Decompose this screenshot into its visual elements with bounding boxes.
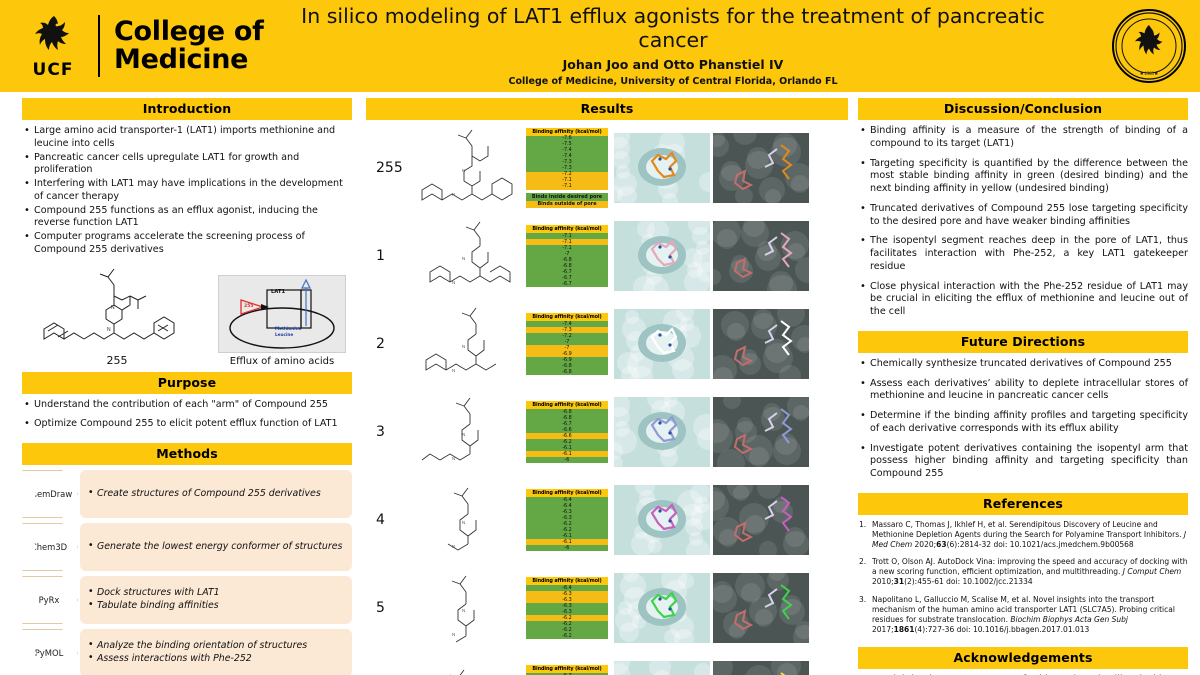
svg-text:N: N [462, 432, 465, 437]
efflux-diagram: LAT1 255 Methionine Leucine Efflux of am… [218, 275, 346, 367]
binding-affinity-table: Binding affinity (kcal/mol)-6.8-6.8-6.7-… [526, 401, 608, 463]
result-docking-images [614, 309, 809, 379]
purpose-heading: Purpose [22, 372, 352, 394]
table-row: -6.7 [526, 281, 608, 287]
docking-side-view [713, 661, 809, 675]
diagram-label-lat1: LAT1 [271, 289, 285, 295]
result-structure-diagram: NN [410, 478, 526, 562]
docking-pore-view [614, 661, 710, 675]
left-column: Introduction Large amino acid transporte… [22, 98, 352, 675]
method-step-body: Dock structures with LAT1 Tabulate bindi… [80, 576, 352, 624]
list-item: Optimize Compound 255 to elicit potent e… [22, 418, 352, 431]
chevron-icon: PyMOL [22, 629, 78, 675]
svg-text:N: N [452, 280, 455, 285]
svg-text:N: N [452, 544, 455, 549]
diagram-label-255: 255 [244, 304, 254, 309]
svg-text:N: N [452, 456, 455, 461]
header-divider [98, 15, 100, 77]
introduction-heading: Introduction [22, 98, 352, 120]
references-heading: References [858, 493, 1188, 515]
result-docking-images [614, 573, 809, 643]
docking-side-view [713, 309, 809, 379]
svg-text:N: N [452, 368, 455, 373]
svg-text:N: N [452, 632, 455, 637]
docking-pore-view [614, 309, 710, 379]
future-directions-bullets: Chemically synthesize truncated derivati… [858, 358, 1188, 481]
result-docking-images [614, 133, 809, 203]
table-row: -7.1 [526, 184, 608, 190]
list-item: Close physical interaction with the Phe-… [858, 281, 1188, 319]
list-item: Investigate potent derivatives containin… [858, 443, 1188, 481]
result-compound-label: 255 [366, 160, 410, 176]
method-tool-label: Chem3D [31, 542, 67, 552]
method-step-body: Generate the lowest energy conformer of … [80, 523, 352, 571]
table-column-header: Binding affinity (kcal/mol) [526, 313, 608, 321]
result-row-4: 4NNBinding affinity (kcal/mol)-6.4-6.4-6… [366, 477, 848, 563]
table-row: -6 [526, 457, 608, 463]
binding-affinity-table: Binding affinity (kcal/mol)-6.4-6.4-6.3-… [526, 489, 608, 551]
method-step-chem3d: Chem3D Generate the lowest energy confor… [22, 523, 352, 571]
method-tool-label: ChemDraw [26, 489, 72, 499]
result-compound-label: 1 [366, 248, 410, 264]
table-column-header: Binding affinity (kcal/mol) [526, 401, 608, 409]
chevron-icon: Chem3D [22, 523, 78, 571]
method-tool-label: PyMOL [35, 648, 64, 658]
result-row-3: 3NNBinding affinity (kcal/mol)-6.8-6.8-6… [366, 389, 848, 475]
table-column-header: Binding affinity (kcal/mol) [526, 665, 608, 673]
method-step-pyrx: PyRx Dock structures with LAT1 Tabulate … [22, 576, 352, 624]
method-step-chemdraw: ChemDraw Create structures of Compound 2… [22, 470, 352, 518]
method-tool-label: PyRx [39, 595, 60, 605]
result-structure-diagram: NN [410, 566, 526, 650]
acknowledgements-heading: Acknowledgements [858, 647, 1188, 669]
docking-pore-view [614, 485, 710, 555]
chevron-icon: PyRx [22, 576, 78, 624]
results-rows: 255NNBinding affinity (kcal/mol)-7.6-7.5… [366, 125, 848, 675]
results-column: Results 255NNBinding affinity (kcal/mol)… [366, 98, 848, 675]
list-item: Interfering with LAT1 may have implicati… [22, 178, 352, 204]
list-item: Chemically synthesize truncated derivati… [858, 358, 1188, 371]
svg-text:★1963★: ★1963★ [1140, 71, 1159, 77]
binding-affinity-table: Binding affinity (kcal/mol)-7.4-7.3-7.2-… [526, 313, 608, 375]
list-item: Computer programs accelerate the screeni… [22, 231, 352, 257]
list-item: Pancreatic cancer cells upregulate LAT1 … [22, 152, 352, 178]
svg-text:N: N [462, 168, 465, 173]
poster-title: In silico modeling of LAT1 efflux agonis… [274, 5, 1072, 52]
result-row-5: 5NNBinding affinity (kcal/mol)-6.4-6.3-6… [366, 565, 848, 651]
docking-pore-view [614, 221, 710, 291]
method-step-body: Analyze the binding orientation of struc… [80, 629, 352, 675]
result-structure-diagram: NN [410, 654, 526, 675]
result-row-6: 6NNBinding affinity (kcal/mol)-5.7-5.5-5… [366, 653, 848, 675]
references-list: Massaro C, Thomas J, Ikhlef H, et al. Se… [858, 520, 1188, 635]
ucf-pegasus-icon [14, 13, 92, 59]
table-row: -6.2 [526, 633, 608, 639]
efflux-caption: Efflux of amino acids [218, 356, 346, 367]
docking-side-view [713, 221, 809, 291]
docking-side-view [713, 133, 809, 203]
method-step-item: Assess interactions with Phe-252 [88, 653, 344, 666]
table-column-header: Binding affinity (kcal/mol) [526, 577, 608, 585]
results-heading: Results [366, 98, 848, 120]
list-item: The isopentyl segment reaches deep in th… [858, 235, 1188, 273]
right-column: Discussion/Conclusion Binding affinity i… [858, 98, 1188, 675]
chevron-icon: ChemDraw [22, 470, 78, 518]
docking-side-view [713, 485, 809, 555]
result-row-2: 2NNBinding affinity (kcal/mol)-7.4-7.3-7… [366, 301, 848, 387]
docking-side-view [713, 573, 809, 643]
svg-text:N: N [107, 327, 111, 333]
reference-item: Napolitano L, Galluccio M, Scalise M, et… [858, 595, 1188, 636]
structure-label: 255 [22, 354, 212, 367]
result-structure-diagram: NN [410, 302, 526, 386]
ucf-wordmark: UCF [14, 60, 92, 80]
list-item: Determine if the binding affinity profil… [858, 410, 1188, 436]
list-item: Assess each derivatives’ ability to depl… [858, 378, 1188, 404]
binding-affinity-table: Binding affinity (kcal/mol)-7.6-7.5-7.4-… [526, 128, 608, 208]
method-step-item: Create structures of Compound 255 deriva… [88, 488, 344, 501]
binding-affinity-table: Binding affinity (kcal/mol)-5.7-5.5-5.5-… [526, 665, 608, 675]
college-line-1: College of [114, 18, 274, 46]
method-step-item: Generate the lowest energy conformer of … [88, 541, 344, 554]
compound-255-structure: N N 255 [22, 263, 212, 367]
binding-affinity-table: Binding affinity (kcal/mol)-6.4-6.3-6.3-… [526, 577, 608, 639]
list-item: Binding affinity is a measure of the str… [858, 125, 1188, 151]
future-directions-heading: Future Directions [858, 331, 1188, 353]
college-name: College of Medicine [114, 18, 274, 73]
table-column-header: Binding affinity (kcal/mol) [526, 489, 608, 497]
result-row-1: 1NNBinding affinity (kcal/mol)-7.1-7.1-7… [366, 213, 848, 299]
result-compound-label: 3 [366, 424, 410, 440]
introduction-figures: N N 255 LAT1 255 [22, 263, 352, 367]
list-item: Compound 255 functions as an efflux agon… [22, 205, 352, 231]
reference-item: Trott O, Olson AJ. AutoDock Vina: improv… [858, 557, 1188, 587]
diagram-label-leucine: Leucine [275, 332, 293, 337]
method-step-item: Dock structures with LAT1 [88, 587, 344, 600]
ucf-logo: UCF [14, 13, 92, 80]
results-legend: Binds inside desired poreBinds outside o… [526, 193, 608, 208]
docking-side-view [713, 397, 809, 467]
svg-text:N: N [452, 192, 455, 197]
poster-canvas: UCF College of Medicine In silico modeli… [0, 0, 1200, 675]
result-structure-diagram: NN [410, 126, 526, 210]
method-step-item: Tabulate binding affinities [88, 600, 344, 613]
method-step-pymol: PyMOL Analyze the binding orientation of… [22, 629, 352, 675]
result-structure-diagram: NN [410, 214, 526, 298]
svg-text:N: N [462, 520, 465, 525]
result-compound-label: 5 [366, 600, 410, 616]
poster-affiliation: College of Medicine, University of Centr… [274, 76, 1072, 87]
binding-affinity-table: Binding affinity (kcal/mol)-7.1-7.1-7.1-… [526, 225, 608, 287]
svg-text:N: N [462, 344, 465, 349]
discussion-bullets: Binding affinity is a measure of the str… [858, 125, 1188, 319]
svg-text:N: N [462, 256, 465, 261]
docking-pore-view [614, 573, 710, 643]
legend-item: Binds outside of pore [526, 201, 608, 209]
legend-item: Binds inside desired pore [526, 193, 608, 201]
introduction-bullets: Large amino acid transporter-1 (LAT1) im… [22, 125, 352, 257]
result-row-255: 255NNBinding affinity (kcal/mol)-7.6-7.5… [366, 125, 848, 211]
discussion-heading: Discussion/Conclusion [858, 98, 1188, 120]
result-compound-label: 4 [366, 512, 410, 528]
table-row: -6.8 [526, 369, 608, 375]
list-item: Truncated derivatives of Compound 255 lo… [858, 203, 1188, 229]
poster-authors: Johan Joo and Otto Phanstiel IV [274, 57, 1072, 72]
result-docking-images [614, 485, 809, 555]
result-docking-images [614, 397, 809, 467]
table-column-header: Binding affinity (kcal/mol) [526, 225, 608, 233]
methods-flowchart: ChemDraw Create structures of Compound 2… [22, 470, 352, 675]
reference-item: Massaro C, Thomas J, Ikhlef H, et al. Se… [858, 520, 1188, 550]
efflux-diagram-box: LAT1 255 Methionine Leucine [218, 275, 346, 353]
poster-header: UCF College of Medicine In silico modeli… [0, 0, 1200, 92]
list-item: Understand the contribution of each "arm… [22, 399, 352, 412]
table-row: -6 [526, 545, 608, 551]
college-line-2: Medicine [114, 46, 274, 74]
method-step-body: Create structures of Compound 255 deriva… [80, 470, 352, 518]
methods-heading: Methods [22, 443, 352, 465]
result-docking-images [614, 221, 809, 291]
list-item: Targeting specificity is quantified by t… [858, 158, 1188, 196]
svg-text:N: N [111, 305, 115, 311]
title-block: In silico modeling of LAT1 efflux agonis… [274, 5, 1112, 87]
svg-text:N: N [462, 608, 465, 613]
result-structure-diagram: NN [410, 390, 526, 474]
docking-pore-view [614, 397, 710, 467]
result-compound-label: 2 [366, 336, 410, 352]
list-item: Large amino acid transporter-1 (LAT1) im… [22, 125, 352, 151]
method-step-item: Analyze the binding orientation of struc… [88, 640, 344, 653]
diagram-label-methionine: Methionine [275, 326, 302, 331]
ucf-seal-icon: ★1963★ [1112, 9, 1186, 83]
result-docking-images [614, 661, 809, 675]
purpose-bullets: Understand the contribution of each "arm… [22, 399, 352, 432]
docking-pore-view [614, 133, 710, 203]
